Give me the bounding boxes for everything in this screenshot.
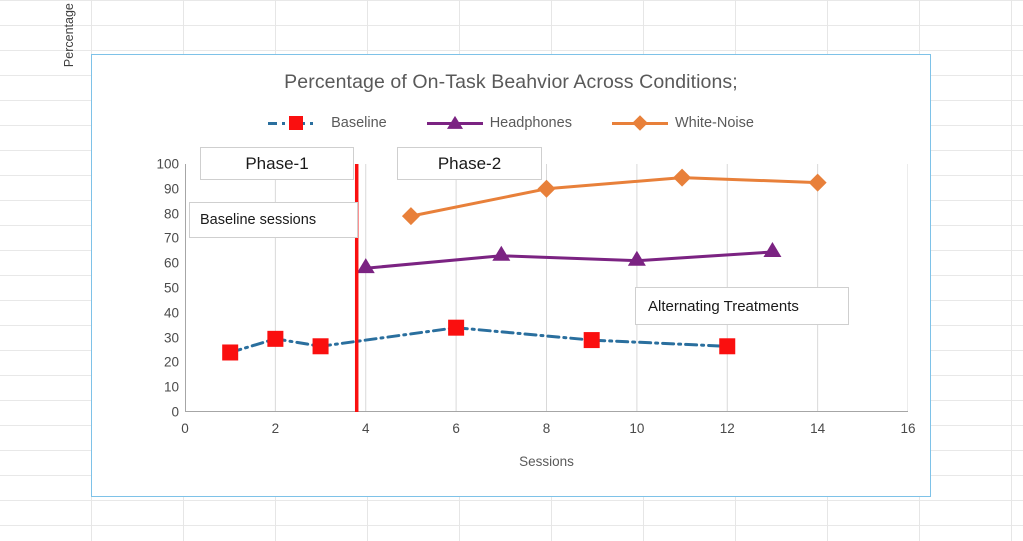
x-tick-label: 6 — [452, 421, 460, 436]
x-tick-label: 0 — [181, 421, 189, 436]
x-tick-label: 16 — [900, 421, 915, 436]
annotation-phase-1[interactable]: Phase-1 — [200, 147, 354, 180]
x-tick-label: 2 — [272, 421, 280, 436]
data-point-square — [267, 331, 283, 347]
y-axis-title: Percentage of On -Task Behavior — [62, 0, 76, 95]
x-axis-tick-labels: 0246810121416 — [185, 421, 908, 441]
x-axis-title: Sessions — [185, 454, 908, 469]
series-line — [366, 252, 773, 268]
y-tick-label: 60 — [164, 256, 179, 271]
data-series-layer — [222, 169, 826, 361]
y-tick-label: 90 — [164, 181, 179, 196]
annotation-alternating-treatments-label: Alternating Treatments — [648, 298, 799, 315]
data-point-square — [719, 338, 735, 354]
y-tick-label: 40 — [164, 305, 179, 320]
y-tick-label: 100 — [156, 157, 179, 172]
data-point-diamond — [673, 169, 691, 187]
annotation-phase-1-label: Phase-1 — [245, 154, 308, 174]
x-tick-label: 8 — [543, 421, 551, 436]
plot-wrapper: Percentage of On -Task Behavior 10090807… — [92, 55, 932, 498]
data-point-triangle — [628, 251, 646, 266]
data-point-square — [448, 320, 464, 336]
data-point-diamond — [402, 207, 420, 225]
y-tick-label: 0 — [171, 405, 179, 420]
data-point-square — [313, 338, 329, 354]
y-tick-label: 80 — [164, 206, 179, 221]
data-point-square — [584, 332, 600, 348]
x-tick-label: 4 — [362, 421, 370, 436]
x-tick-label: 12 — [720, 421, 735, 436]
y-tick-label: 70 — [164, 231, 179, 246]
series-headphones — [357, 242, 782, 273]
chart-object[interactable]: Percentage of On-Task Beahvior Across Co… — [91, 54, 931, 497]
data-point-triangle — [492, 246, 510, 261]
x-tick-label: 10 — [629, 421, 644, 436]
y-tick-label: 10 — [164, 380, 179, 395]
annotation-phase-2-label: Phase-2 — [438, 154, 501, 174]
series-line — [230, 328, 727, 353]
y-axis-tick-labels: 1009080706050403020100 — [125, 164, 179, 412]
data-point-diamond — [538, 180, 556, 198]
y-tick-label: 50 — [164, 281, 179, 296]
annotation-phase-2[interactable]: Phase-2 — [397, 147, 542, 180]
y-tick-label: 30 — [164, 330, 179, 345]
annotation-alternating-treatments[interactable]: Alternating Treatments — [635, 287, 849, 325]
data-point-triangle — [763, 242, 781, 257]
data-point-square — [222, 344, 238, 360]
series-baseline — [222, 320, 735, 361]
annotation-baseline-sessions[interactable]: Baseline sessions — [189, 202, 358, 238]
series-line — [411, 178, 818, 217]
annotation-baseline-sessions-label: Baseline sessions — [200, 212, 316, 228]
data-point-triangle — [357, 258, 375, 273]
data-point-diamond — [809, 174, 827, 192]
y-tick-label: 20 — [164, 355, 179, 370]
x-tick-label: 14 — [810, 421, 825, 436]
